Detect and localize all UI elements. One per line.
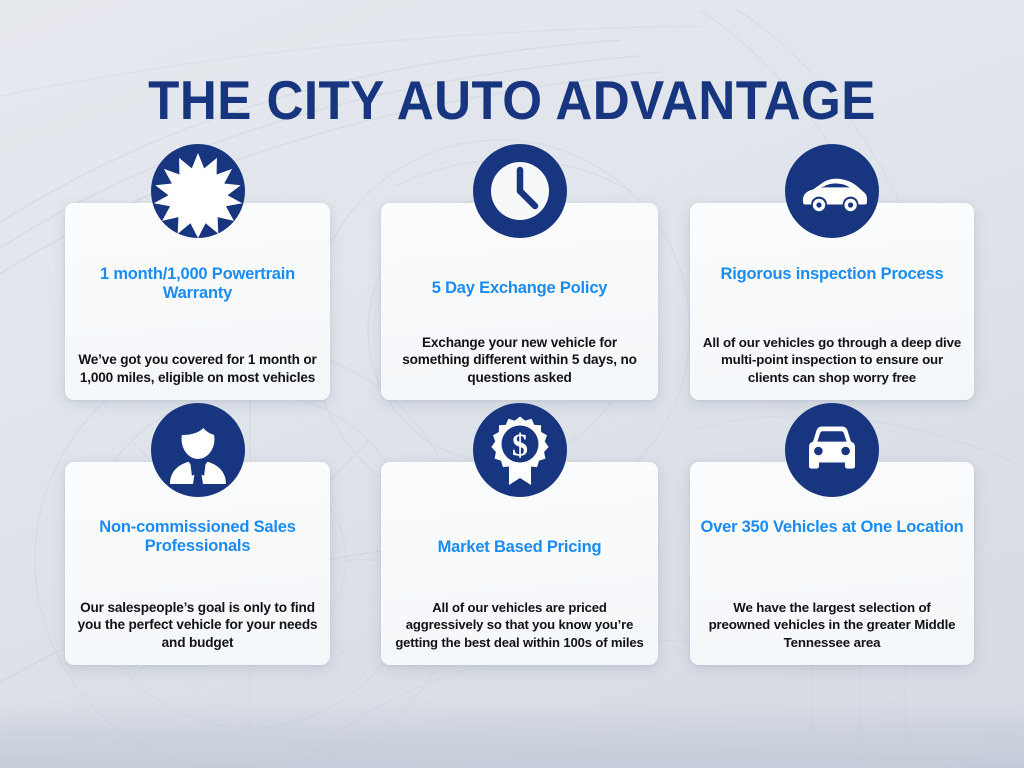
starburst-icon: [150, 143, 246, 239]
card-heading: 1 month/1,000 Powertrain Warranty: [75, 265, 320, 303]
advantage-card: 5 Day Exchange Policy Exchange your new …: [381, 203, 658, 400]
card-body-text: All of our vehicles are priced aggressiv…: [393, 599, 646, 652]
advantage-infographic: THE CITY AUTO ADVANTAGE 1 month/1,000 Po…: [0, 0, 1024, 768]
advantage-card: Rigorous inspection Process All of our v…: [690, 203, 974, 400]
card-heading: Market Based Pricing: [391, 538, 648, 557]
card-heading: 5 Day Exchange Policy: [391, 279, 648, 298]
salesperson-icon: [150, 402, 246, 498]
card-body-text: We have the largest selection of preowne…: [702, 599, 962, 652]
advantage-card: Non-commissioned Sales Professionals Our…: [65, 462, 330, 665]
car-side-icon: [784, 143, 880, 239]
advantage-card: 1 month/1,000 Powertrain Warranty We’ve …: [65, 203, 330, 400]
award-dollar-icon: $: [472, 402, 568, 498]
clock-icon: [472, 143, 568, 239]
card-heading: Non-commissioned Sales Professionals: [75, 518, 320, 556]
car-front-icon: [784, 402, 880, 498]
advantage-card-grid: 1 month/1,000 Powertrain Warranty We’ve …: [0, 0, 1024, 768]
card-body-text: We’ve got you covered for 1 month or 1,0…: [77, 351, 318, 386]
card-heading: Over 350 Vehicles at One Location: [700, 518, 964, 537]
advantage-card: Over 350 Vehicles at One Location We hav…: [690, 462, 974, 665]
card-body-text: Our salespeople’s goal is only to find y…: [77, 599, 318, 652]
advantage-card: $ Market Based Pricing All of our vehicl…: [381, 462, 658, 665]
card-body-text: Exchange your new vehicle for something …: [393, 334, 646, 387]
card-heading: Rigorous inspection Process: [700, 265, 964, 284]
svg-text:$: $: [512, 427, 528, 463]
card-body-text: All of our vehicles go through a deep di…: [702, 334, 962, 387]
